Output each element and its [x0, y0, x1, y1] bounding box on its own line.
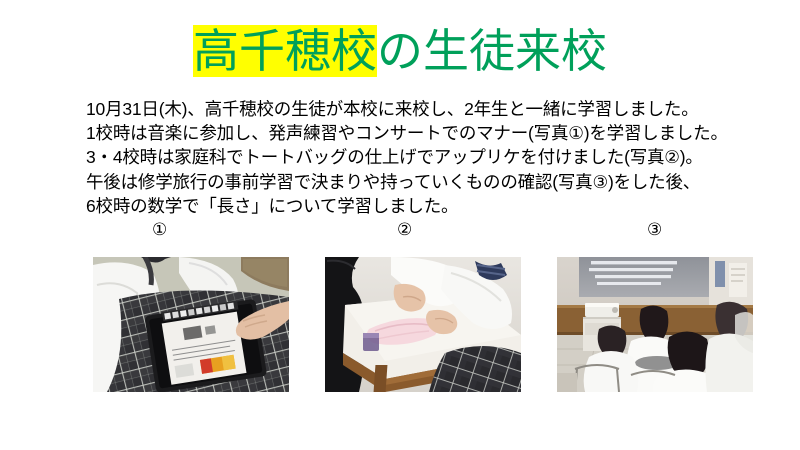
photo-home-economics-sewing-image — [325, 257, 521, 392]
slide-canvas: 高千穂校の生徒来校 10月31日(木)、高千穂校の生徒が本校に来校し、2年生と一… — [0, 0, 800, 450]
photo-tablet-study — [93, 257, 289, 392]
body-line-2: 1校時は音楽に参加し、発声練習やコンサートでのマナー(写真①)を学習しました。 — [86, 121, 766, 145]
body-line-1: 10月31日(木)、高千穂校の生徒が本校に来校し、2年生と一緒に学習しました。 — [86, 97, 766, 121]
title-highlighted-text: 高千穂校 — [193, 25, 377, 77]
photo-classroom-projector-image — [557, 257, 753, 392]
body-line-5: 6校時の数学で「長さ」について学習しました。 — [86, 194, 766, 218]
title-plain-text: の生徒来校 — [377, 25, 607, 77]
body-line-3: 3・4校時は家庭科でトートバッグの仕上げでアップリケを付けました(写真②)。 — [86, 145, 766, 169]
photo-marker-3: ③ — [647, 220, 662, 240]
photo-classroom-projector — [557, 257, 753, 392]
page-title: 高千穂校の生徒来校 — [0, 22, 800, 80]
body-line-4: 午後は修学旅行の事前学習で決まりや持っていくものの確認(写真③)をした後、 — [86, 170, 766, 194]
photo-marker-2: ② — [397, 220, 412, 240]
body-paragraph: 10月31日(木)、高千穂校の生徒が本校に来校し、2年生と一緒に学習しました。 … — [86, 97, 766, 218]
photo-marker-1: ① — [152, 220, 167, 240]
photo-tablet-study-image — [93, 257, 289, 392]
photo-home-economics-sewing — [325, 257, 521, 392]
